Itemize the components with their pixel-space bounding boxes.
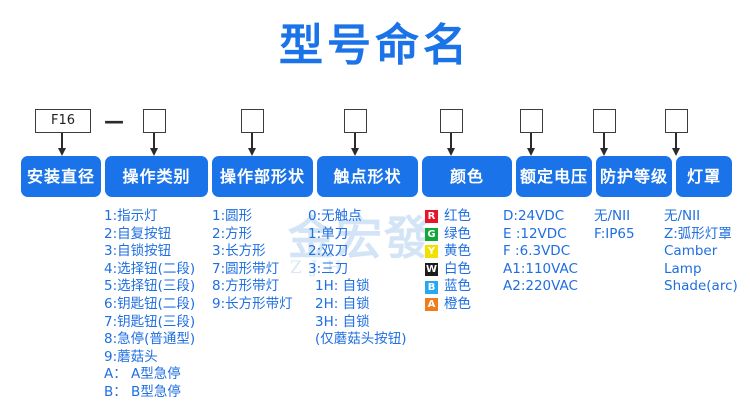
category-pill-color[interactable]: 颜色	[422, 156, 512, 197]
option-item: A： A型急停	[104, 366, 195, 384]
color-label: 绿色	[444, 226, 471, 244]
option-item: 无/NII	[594, 208, 635, 226]
option-item: 8:急停(普通型)	[104, 331, 195, 349]
arrow-to-actuator-shape	[248, 133, 257, 157]
arrow-to-operation-type	[150, 133, 159, 157]
option-column-rated-voltage: D:24VDC E :12VDC F :6.3VDC A1:110VAC A2:…	[503, 208, 578, 296]
option-item: 2:方形	[212, 226, 293, 244]
code-separator-dash: —	[104, 109, 120, 133]
color-option-row: A 橙色	[425, 296, 471, 314]
option-column-protection-level: 无/NII F:IP65	[594, 208, 635, 243]
option-item: 3:长方形	[212, 243, 293, 261]
option-item: 3H: 自锁	[308, 314, 407, 332]
option-item: 6:钥匙钮(二段)	[104, 296, 195, 314]
category-pill-operation-type[interactable]: 操作类别	[105, 156, 208, 197]
option-item: F :6.3VDC	[503, 243, 578, 261]
option-item: 1:指示灯	[104, 208, 195, 226]
code-box-color[interactable]	[440, 109, 463, 133]
option-item: (仅蘑菇头按钮)	[308, 331, 407, 349]
color-swatch-red: R	[425, 210, 438, 223]
code-box-rated-voltage[interactable]	[520, 109, 543, 133]
color-label: 红色	[444, 208, 471, 226]
option-item: 2H: 自锁	[308, 296, 407, 314]
option-item: 0:无触点	[308, 208, 407, 226]
option-item: Shade(arc)	[664, 278, 738, 296]
arrow-to-protection-level	[600, 133, 609, 157]
color-swatch-white: W	[425, 263, 438, 276]
page-title: 型号命名	[0, 19, 750, 73]
option-item: Camber	[664, 243, 738, 261]
option-item: 1:圆形	[212, 208, 293, 226]
option-item: 8:方形带灯	[212, 278, 293, 296]
color-swatch-yellow: Y	[425, 245, 438, 258]
option-columns: 1:指示灯 2:自复按钮 3:自锁按钮 4:选择钮(二段) 5:选择钮(三段) …	[0, 208, 750, 418]
arrow-to-contact-form	[351, 133, 360, 157]
color-option-row: B 蓝色	[425, 278, 471, 296]
code-box-operation-type[interactable]	[143, 109, 166, 133]
code-box-protection-level[interactable]	[593, 109, 616, 133]
option-item: 1H: 自锁	[308, 278, 407, 296]
option-item: 3:三刀	[308, 261, 407, 279]
category-pill-protection-level[interactable]: 防护等级	[596, 156, 672, 197]
code-box-contact-form[interactable]	[344, 109, 367, 133]
color-option-row: W 白色	[425, 261, 471, 279]
arrow-to-mounting-diameter	[58, 133, 67, 157]
color-label: 橙色	[444, 296, 471, 314]
option-item: B： B型急停	[104, 384, 195, 402]
category-pill-contact-form[interactable]: 触点形状	[317, 156, 418, 197]
option-column-lamp-shade: 无/NII Z:弧形灯罩 Camber Lamp Shade(arc)	[664, 208, 738, 296]
color-option-row: R 红色	[425, 208, 471, 226]
option-column-actuator-shape: 1:圆形 2:方形 3:长方形 7:圆形带灯 8:方形带灯 9:长方形带灯	[212, 208, 293, 314]
option-item: 4:选择钮(二段)	[104, 261, 195, 279]
color-swatch-blue: B	[425, 281, 438, 294]
option-item: F:IP65	[594, 226, 635, 244]
arrow-to-rated-voltage	[527, 133, 536, 157]
option-item: Z:弧形灯罩	[664, 226, 738, 244]
category-pill-lamp-shade[interactable]: 灯罩	[676, 156, 732, 197]
color-option-row: G 绿色	[425, 226, 471, 244]
option-item: 2:自复按钮	[104, 226, 195, 244]
option-item: Lamp	[664, 261, 738, 279]
option-item: 7:钥匙钮(三段)	[104, 314, 195, 332]
option-item: 无/NII	[664, 208, 738, 226]
option-column-contact-form: 0:无触点 1:单刀 2:双刀 3:三刀 1H: 自锁 2H: 自锁 3H: 自…	[308, 208, 407, 349]
color-label: 白色	[444, 261, 471, 279]
option-item: 2:双刀	[308, 243, 407, 261]
option-item: 7:圆形带灯	[212, 261, 293, 279]
category-pill-row: 安装直径 操作类别 操作部形状 触点形状 颜色 额定电压 防护等级 灯罩	[0, 156, 750, 198]
category-pill-mounting-diameter[interactable]: 安装直径	[21, 156, 101, 197]
category-pill-rated-voltage[interactable]: 额定电压	[516, 156, 592, 197]
option-column-color: R 红色 G 绿色 Y 黄色 W 白色 B 蓝色 A 橙色	[425, 208, 471, 314]
option-column-operation-type: 1:指示灯 2:自复按钮 3:自锁按钮 4:选择钮(二段) 5:选择钮(三段) …	[104, 208, 195, 402]
option-item: 9:长方形带灯	[212, 296, 293, 314]
option-item: D:24VDC	[503, 208, 578, 226]
color-label: 黄色	[444, 243, 471, 261]
color-option-row: Y 黄色	[425, 243, 471, 261]
color-swatch-orange: A	[425, 298, 438, 311]
option-item: 3:自锁按钮	[104, 243, 195, 261]
option-item: A1:110VAC	[503, 261, 578, 279]
arrow-to-lamp-shade	[672, 133, 681, 157]
color-swatch-green: G	[425, 228, 438, 241]
code-box-actuator-shape[interactable]	[241, 109, 264, 133]
option-item: A2:220VAC	[503, 278, 578, 296]
code-box-mounting-diameter[interactable]: F16	[35, 109, 91, 133]
model-code-row: F16 —	[0, 103, 750, 155]
option-item: 5:选择钮(三段)	[104, 278, 195, 296]
color-label: 蓝色	[444, 278, 471, 296]
option-item: E :12VDC	[503, 226, 578, 244]
category-pill-actuator-shape[interactable]: 操作部形状	[212, 156, 313, 197]
arrow-to-color	[447, 133, 456, 157]
option-item: 1:单刀	[308, 226, 407, 244]
code-box-lamp-shade[interactable]	[665, 109, 688, 133]
option-item: 9:蘑菇头	[104, 349, 195, 367]
